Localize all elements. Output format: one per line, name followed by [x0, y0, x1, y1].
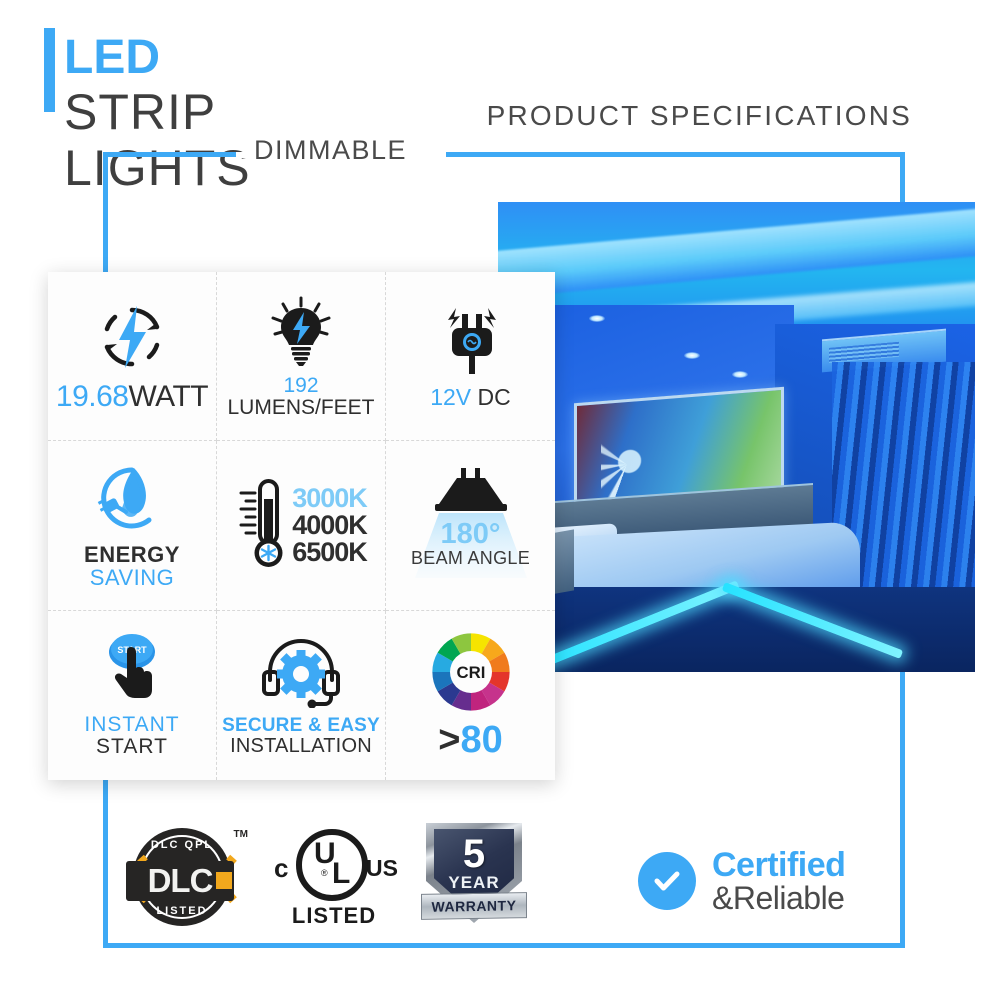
beam-angle-value: 180°: [409, 518, 533, 551]
title-led: LED: [64, 36, 160, 80]
certified-line2: &Reliable: [712, 882, 845, 914]
ul-c: c: [274, 853, 288, 884]
kelvin-4000k: 4000K: [292, 512, 367, 539]
check-circle-icon: [638, 852, 696, 910]
ul-registered-mark: ®: [321, 868, 328, 878]
room-scene: [498, 202, 975, 672]
cri-operator: >: [438, 719, 460, 761]
ul-listed-text: LISTED: [270, 903, 398, 929]
beam-angle-icon: 180° BEAM ANGLE: [409, 466, 533, 584]
dlc-main-text: DLC: [130, 863, 230, 899]
energy-leaf-icon: [94, 461, 170, 537]
dlc-trademark: TM: [234, 829, 248, 840]
cri-color-wheel-icon: CRI: [429, 630, 513, 714]
instant-value: INSTANT: [84, 714, 179, 736]
warranty-banner-text: WARRANTY: [421, 892, 527, 920]
spec-cell-installation: SECURE & EASY INSTALLATION: [217, 611, 386, 780]
spec-caption-wattage: 19.68WATT: [56, 381, 208, 413]
energy-unit: SAVING: [84, 566, 180, 589]
warranty-year-text: YEAR: [422, 873, 526, 893]
spec-cell-color-temperature: 3000K 4000K 6500K: [217, 441, 386, 610]
dlc-bottom-text: LISTED: [128, 905, 236, 917]
specification-card: 19.68WATT: [48, 272, 555, 780]
headset-gear-icon: [260, 634, 342, 710]
voltage-value: 12V: [430, 384, 471, 410]
spec-cell-cri: CRI >80: [386, 611, 555, 780]
title-accent-bar: [44, 28, 55, 112]
dimmable-label: DIMMABLE: [246, 135, 415, 166]
start-button-hand-icon: START: [99, 632, 165, 708]
lightbulb-icon: [269, 293, 333, 369]
ul-l: L: [332, 857, 350, 891]
spec-cell-beam-angle: 180° BEAM ANGLE: [386, 441, 555, 610]
ul-us: US: [366, 855, 398, 882]
installation-unit: INSTALLATION: [222, 736, 380, 757]
ul-listed-badge: c U L ® US LISTED: [270, 823, 398, 931]
dlc-gold-square: [216, 872, 232, 889]
certified-text: Certified &Reliable: [712, 848, 845, 914]
lumens-unit: LUMENS/FEET: [227, 396, 374, 419]
voltage-unit: DC: [478, 384, 511, 410]
spec-cell-energy-saving: ENERGY SAVING: [48, 441, 217, 610]
dlc-listed-badge: DLC QPL LISTED DLC TM: [128, 823, 246, 931]
thermometer-icon: [235, 477, 285, 573]
spec-cell-lumens: 192 LUMENS/FEET: [217, 272, 386, 441]
certified-reliable-block: Certified &Reliable: [638, 848, 845, 914]
certification-badges: DLC QPL LISTED DLC TM c U L ® US LISTED …: [128, 818, 548, 936]
spec-caption-energy: ENERGY SAVING: [84, 543, 180, 590]
warranty-shield-badge: 5 YEAR WARRANTY: [422, 821, 526, 933]
product-specifications-heading: PRODUCT SPECIFICATIONS: [487, 100, 912, 132]
cri-value: 80: [460, 719, 502, 761]
power-cycle-icon: [99, 299, 165, 375]
wattage-unit: WATT: [128, 380, 208, 413]
warranty-number: 5: [422, 835, 526, 873]
energy-value: ENERGY: [84, 543, 180, 566]
plug-icon: [438, 303, 504, 379]
ceiling-spotlight: [589, 315, 605, 322]
spec-caption-installation: SECURE & EASY INSTALLATION: [222, 716, 380, 757]
infographic-root: LED STRIP LIGHTS PRODUCT SPECIFICATIONS …: [0, 0, 1000, 1000]
spec-cell-voltage: 12V DC: [386, 272, 555, 441]
floor: [498, 587, 975, 672]
kelvin-6500k: 6500K: [292, 539, 367, 566]
kelvin-group: 3000K 4000K 6500K: [235, 477, 367, 573]
lumens-value: 192: [283, 374, 318, 397]
instant-unit: START: [84, 736, 179, 758]
dlc-top-text: DLC QPL: [128, 839, 236, 851]
svg-text:CRI: CRI: [456, 663, 485, 682]
spec-caption-cri: >80: [438, 720, 502, 760]
installation-value: SECURE & EASY: [222, 716, 380, 736]
wattage-value: 19.68: [56, 380, 129, 413]
certified-line1: Certified: [712, 848, 845, 882]
spec-caption-voltage: 12V DC: [430, 385, 511, 409]
spec-caption-instant: INSTANT START: [84, 714, 179, 759]
bedroom-led-photo: [498, 202, 975, 672]
spec-cell-instant-start: START INSTANT START: [48, 611, 217, 780]
spec-caption-lumens: 192 LUMENS/FEET: [221, 375, 381, 420]
kelvin-values: 3000K 4000K 6500K: [292, 485, 367, 566]
beam-angle-unit: BEAM ANGLE: [409, 548, 533, 569]
spec-cell-wattage: 19.68WATT: [48, 272, 217, 441]
kelvin-3000k: 3000K: [292, 485, 367, 512]
